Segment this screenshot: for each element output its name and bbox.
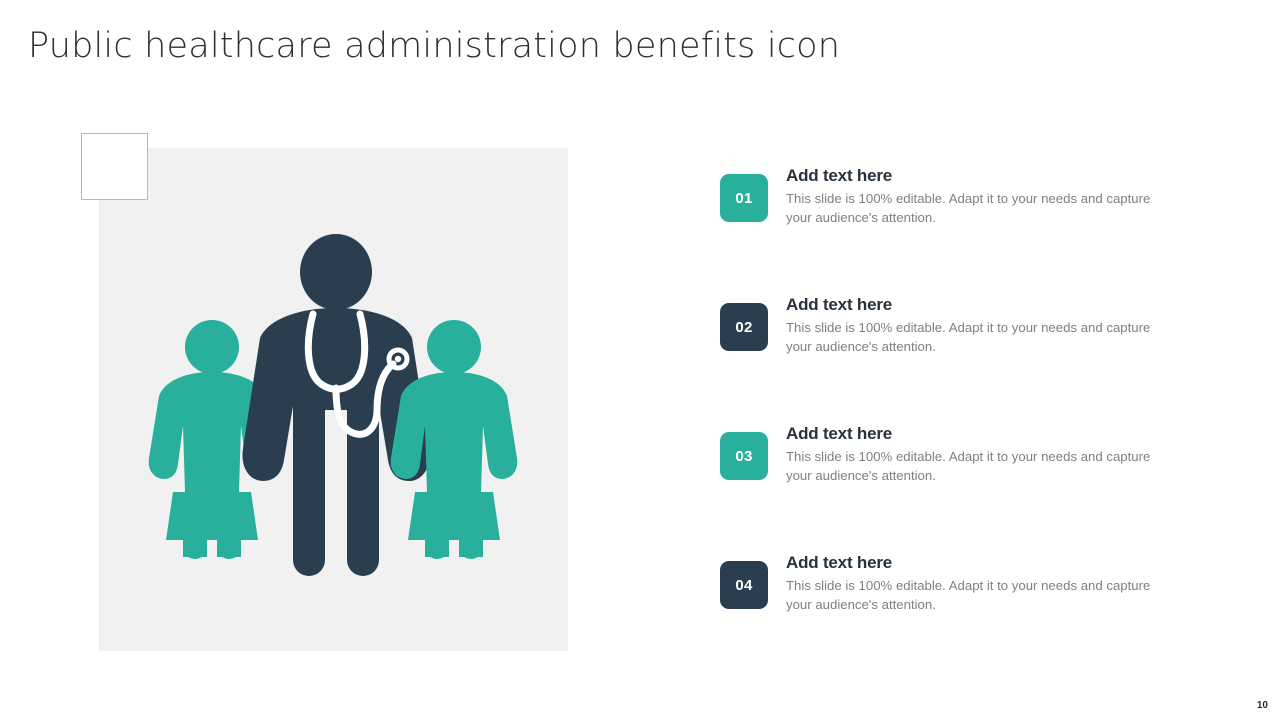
item-text-block: Add text here This slide is 100% editabl…: [786, 553, 1158, 614]
page-number: 10: [1257, 700, 1268, 711]
item-number-badge-01: 01: [720, 174, 768, 222]
benefits-list: 01 Add text here This slide is 100% edit…: [720, 166, 1160, 682]
item-heading: Add text here: [786, 295, 1158, 315]
item-body: This slide is 100% editable. Adapt it to…: [786, 319, 1158, 356]
healthcare-team-icon: [99, 148, 568, 651]
page-title: Public healthcare administration benefit…: [28, 26, 840, 66]
list-item[interactable]: 01 Add text here This slide is 100% edit…: [720, 166, 1160, 295]
item-body: This slide is 100% editable. Adapt it to…: [786, 448, 1158, 485]
list-item[interactable]: 02 Add text here This slide is 100% edit…: [720, 295, 1160, 424]
item-text-block: Add text here This slide is 100% editabl…: [786, 424, 1158, 485]
item-heading: Add text here: [786, 553, 1158, 573]
item-body: This slide is 100% editable. Adapt it to…: [786, 190, 1158, 227]
item-heading: Add text here: [786, 166, 1158, 186]
item-number-badge-03: 03: [720, 432, 768, 480]
item-text-block: Add text here This slide is 100% editabl…: [786, 295, 1158, 356]
item-number-badge-02: 02: [720, 303, 768, 351]
item-number-badge-04: 04: [720, 561, 768, 609]
item-text-block: Add text here This slide is 100% editabl…: [786, 166, 1158, 227]
list-item[interactable]: 03 Add text here This slide is 100% edit…: [720, 424, 1160, 553]
item-body: This slide is 100% editable. Adapt it to…: [786, 577, 1158, 614]
list-item[interactable]: 04 Add text here This slide is 100% edit…: [720, 553, 1160, 682]
item-heading: Add text here: [786, 424, 1158, 444]
